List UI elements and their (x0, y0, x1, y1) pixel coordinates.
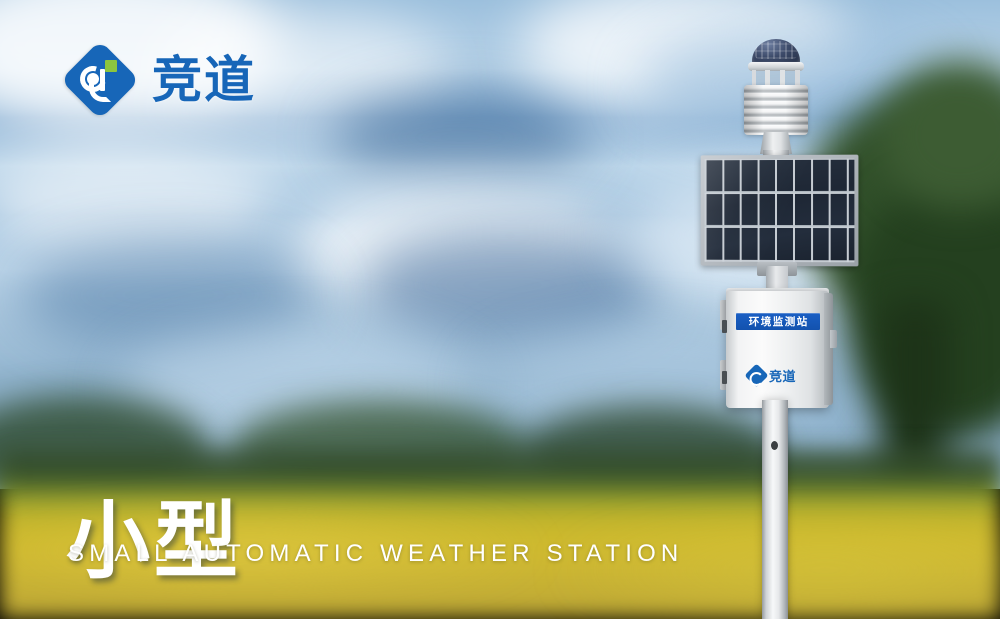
field-highlight (550, 520, 1000, 619)
promo-banner: 环境监测站 竞道 竞道 小型 自动气象站 SMALL AUTOMATIC WEA… (0, 0, 1000, 619)
page-subtitle: SMALL AUTOMATIC WEATHER STATION (68, 540, 683, 568)
jingdao-diamond-logo-icon (64, 44, 136, 116)
logo-green-square (105, 60, 117, 72)
brand-logo[interactable]: 竞道 (64, 44, 256, 116)
brand-name: 竞道 (152, 55, 256, 105)
page-title: 小型 自动气象站 (66, 302, 506, 619)
